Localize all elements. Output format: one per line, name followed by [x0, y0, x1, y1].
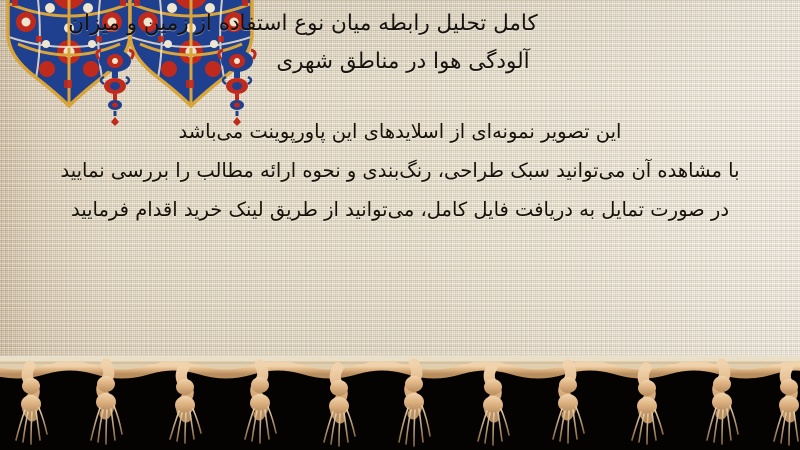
title-line-1: کامل تحلیل رابطه میان نوع استفاده از زمی… — [16, 5, 800, 43]
body-line-2: با مشاهده آن می‌توانید سبک طراحی، رنگ‌بن… — [0, 151, 800, 190]
carpet-fringe-icon — [0, 356, 800, 450]
slide-canvas: کامل تحلیل رابطه میان نوع استفاده از زمی… — [0, 0, 800, 450]
slide-text-layer: کامل تحلیل رابطه میان نوع استفاده از زمی… — [0, 0, 800, 372]
title-line-2: آلودگی هوا در مناطق شهری — [16, 43, 800, 81]
body-line-1: این تصویر نمونه‌ای از اسلایدهای این پاور… — [0, 112, 800, 151]
carpet-fringe — [0, 356, 800, 450]
body-copy: این تصویر نمونه‌ای از اسلایدهای این پاور… — [0, 112, 800, 229]
body-line-3: در صورت تمایل به دریافت فایل کامل، می‌تو… — [0, 190, 800, 229]
page-title: کامل تحلیل رابطه میان نوع استفاده از زمی… — [16, 5, 800, 81]
